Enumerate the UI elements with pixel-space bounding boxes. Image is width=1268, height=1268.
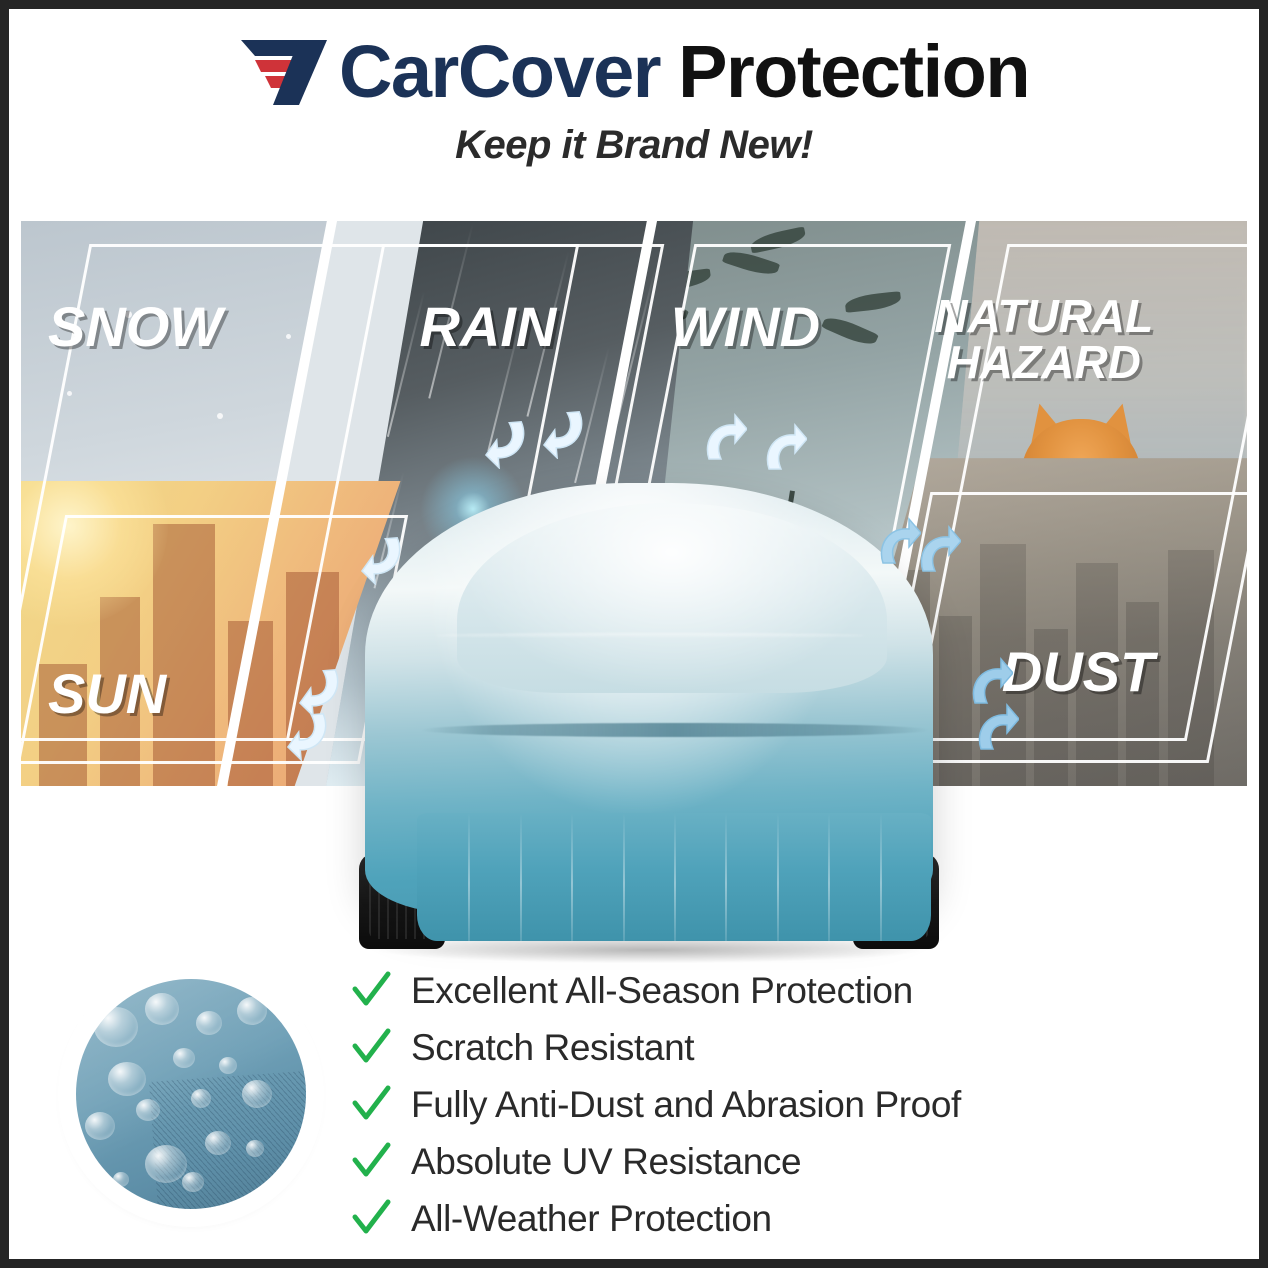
feature-label: All-Weather Protection bbox=[411, 1198, 772, 1240]
deflection-arrow-icon bbox=[701, 413, 747, 465]
list-item: All-Weather Protection bbox=[351, 1190, 961, 1247]
deflection-arrow-icon bbox=[361, 533, 407, 585]
panel-label-snow: SNOW bbox=[48, 300, 222, 355]
panel-label-dust: DUST bbox=[1002, 645, 1154, 700]
header: CarCoverProtection Keep it Brand New! bbox=[9, 9, 1259, 209]
list-item: Fully Anti-Dust and Abrasion Proof bbox=[351, 1076, 961, 1133]
deflection-arrow-icon bbox=[915, 525, 961, 577]
icarcover-logo-icon bbox=[239, 35, 331, 109]
sun-glow-icon bbox=[21, 481, 168, 626]
list-item: Excellent All-Season Protection bbox=[351, 962, 961, 1019]
check-icon bbox=[351, 1028, 391, 1068]
feature-label: Excellent All-Season Protection bbox=[411, 970, 913, 1012]
water-bead-fabric-icon bbox=[76, 979, 306, 1209]
deflection-arrow-icon bbox=[761, 423, 807, 475]
brand-name-text: CarCover bbox=[339, 30, 660, 113]
poster-canvas: CarCoverProtection Keep it Brand New! ❄ bbox=[9, 9, 1259, 1259]
fabric-swatch bbox=[67, 970, 315, 1218]
panel-label-rain: RAIN bbox=[419, 300, 556, 355]
deflection-arrow-icon bbox=[287, 709, 333, 761]
feature-label: Absolute UV Resistance bbox=[411, 1141, 801, 1183]
tagline: Keep it Brand New! bbox=[455, 123, 813, 168]
check-icon bbox=[351, 1142, 391, 1182]
deflection-arrow-icon bbox=[967, 657, 1013, 709]
car-wheel-right bbox=[853, 853, 939, 949]
poster-frame: CarCoverProtection Keep it Brand New! ❄ bbox=[0, 0, 1268, 1268]
brand-lockup: CarCoverProtection bbox=[239, 35, 1029, 109]
deflection-arrow-icon bbox=[543, 407, 589, 459]
deflection-arrow-icon bbox=[973, 703, 1019, 755]
feature-label: Scratch Resistant bbox=[411, 1027, 694, 1069]
car-wheel-left bbox=[359, 853, 445, 949]
brand-suffix-text: Protection bbox=[678, 30, 1029, 113]
check-icon bbox=[351, 1085, 391, 1125]
feature-label: Fully Anti-Dust and Abrasion Proof bbox=[411, 1084, 961, 1126]
list-item: Absolute UV Resistance bbox=[351, 1133, 961, 1190]
panel-label-wind: WIND bbox=[671, 300, 820, 355]
panel-label-sun: SUN bbox=[48, 667, 166, 722]
panel-label-natural-hazard: NATURAL HAZARD bbox=[934, 294, 1153, 384]
features-section: Excellent All-Season Protection Scratch … bbox=[9, 944, 1259, 1264]
check-icon bbox=[351, 1199, 391, 1239]
hazard-collage: ❄ bbox=[21, 221, 1247, 786]
car-cover-skirt bbox=[417, 813, 931, 941]
check-icon bbox=[351, 971, 391, 1011]
feature-list: Excellent All-Season Protection Scratch … bbox=[351, 956, 961, 1247]
deflection-arrow-icon bbox=[485, 417, 531, 469]
brand-title: CarCoverProtection bbox=[339, 35, 1029, 109]
list-item: Scratch Resistant bbox=[351, 1019, 961, 1076]
